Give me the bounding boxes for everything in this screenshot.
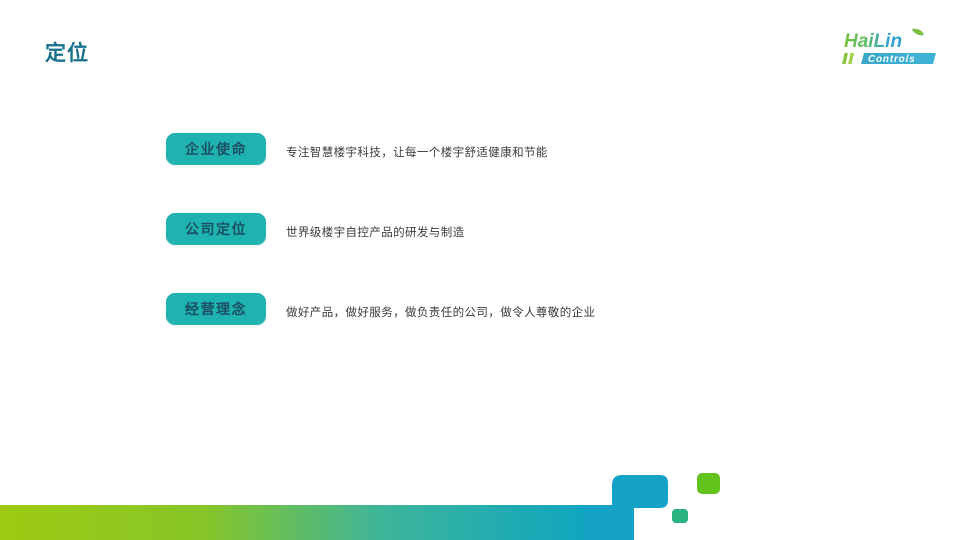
list-item: 经营理念 做好产品，做好服务，做负责任的公司，做令人尊敬的企业 (166, 293, 886, 373)
leaf-icon (912, 29, 924, 35)
bottom-decoration (0, 450, 960, 540)
statement-text: 专注智慧楼宇科技，让每一个楼宇舒适健康和节能 (286, 145, 548, 161)
badge-label: 经营理念 (185, 302, 247, 316)
page-title: 定位 (45, 41, 89, 66)
logo-subtext: Controls (868, 54, 916, 65)
gradient-bar (0, 505, 585, 540)
slide-canvas: 定位 HaiLin (0, 0, 960, 540)
badge-label: 企业使命 (185, 142, 247, 156)
badge-label: 公司定位 (185, 222, 247, 236)
badge-mission[interactable]: 企业使命 (166, 133, 266, 165)
statement-text: 世界级楼宇自控产品的研发与制造 (286, 225, 465, 241)
list-item: 公司定位 世界级楼宇自控产品的研发与制造 (166, 213, 886, 293)
accent-square-small (672, 509, 688, 523)
accent-square-large (697, 473, 720, 494)
step-shape (585, 475, 668, 540)
logo-wordmark: HaiLin (844, 31, 902, 52)
badge-positioning[interactable]: 公司定位 (166, 213, 266, 245)
statement-text: 做好产品，做好服务，做负责任的公司，做令人尊敬的企业 (286, 305, 595, 321)
hailin-logo: HaiLin Controls (842, 27, 938, 69)
list-item: 企业使命 专注智慧楼宇科技，让每一个楼宇舒适健康和节能 (166, 133, 886, 213)
badge-philosophy[interactable]: 经营理念 (166, 293, 266, 325)
statement-list: 企业使命 专注智慧楼宇科技，让每一个楼宇舒适健康和节能 公司定位 世界级楼宇自控… (166, 133, 886, 373)
